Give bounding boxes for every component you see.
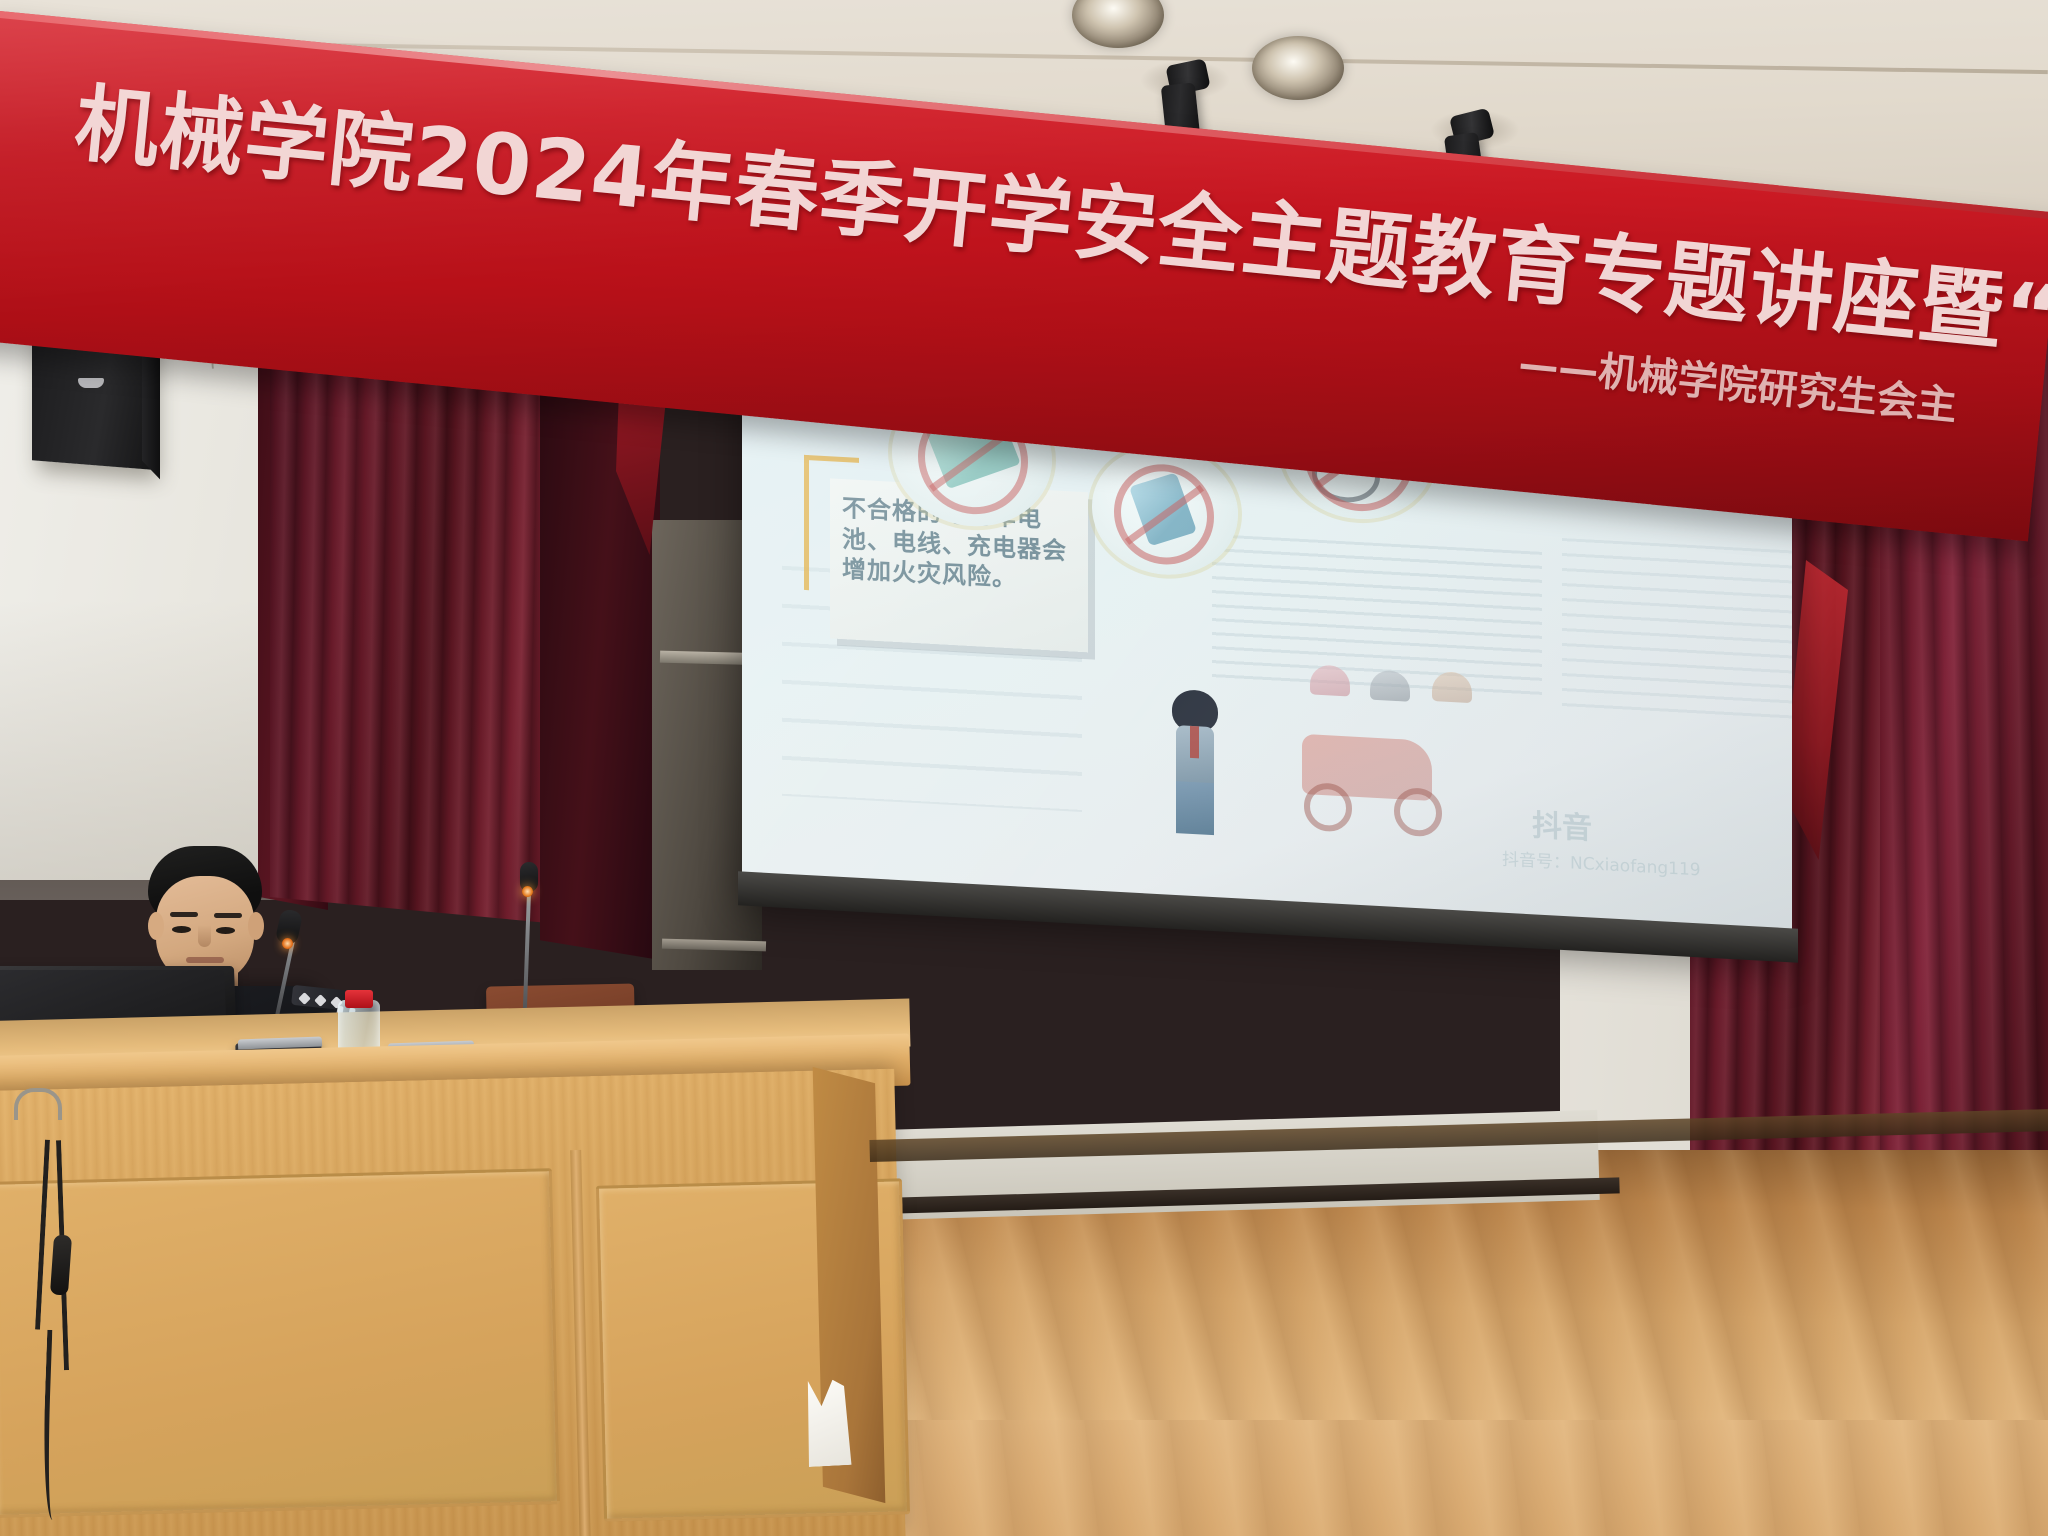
- desk-cable-clip: [14, 1088, 62, 1120]
- douyin-handle-label: 抖音号：NCxiaofang119: [1502, 845, 1701, 881]
- officer-eye-left: [172, 926, 191, 933]
- scooter-wheel-2: [1394, 787, 1442, 838]
- podium-panel-left: [0, 1168, 560, 1518]
- slide-cartoon-tie: [1190, 726, 1199, 758]
- ceiling-downlight-2-icon: [1252, 36, 1344, 100]
- officer-eye-right: [216, 927, 235, 934]
- microphone-led-left: [282, 938, 293, 949]
- wall-speaker-logo-icon: [78, 378, 104, 388]
- slide-cartoon-legs: [1176, 781, 1214, 835]
- officer-ear-right: [248, 912, 264, 940]
- officer-mouth: [186, 957, 224, 963]
- officer-brow-left: [170, 912, 198, 917]
- officer-brow-right: [214, 913, 242, 918]
- officer-nose: [198, 925, 211, 947]
- slide-bg-building-2: [1562, 538, 1792, 721]
- microphone-led-right: [522, 886, 533, 897]
- officer-ear-left: [148, 912, 164, 940]
- water-bottle-cap[interactable]: [345, 990, 373, 1008]
- lecture-hall-photo: 南充消防 【电动自行车消防安全警示片】 不合格的电动车电池、电线、充电器会增加火…: [0, 0, 2048, 1536]
- douyin-brand-label: 抖音: [1532, 800, 1592, 847]
